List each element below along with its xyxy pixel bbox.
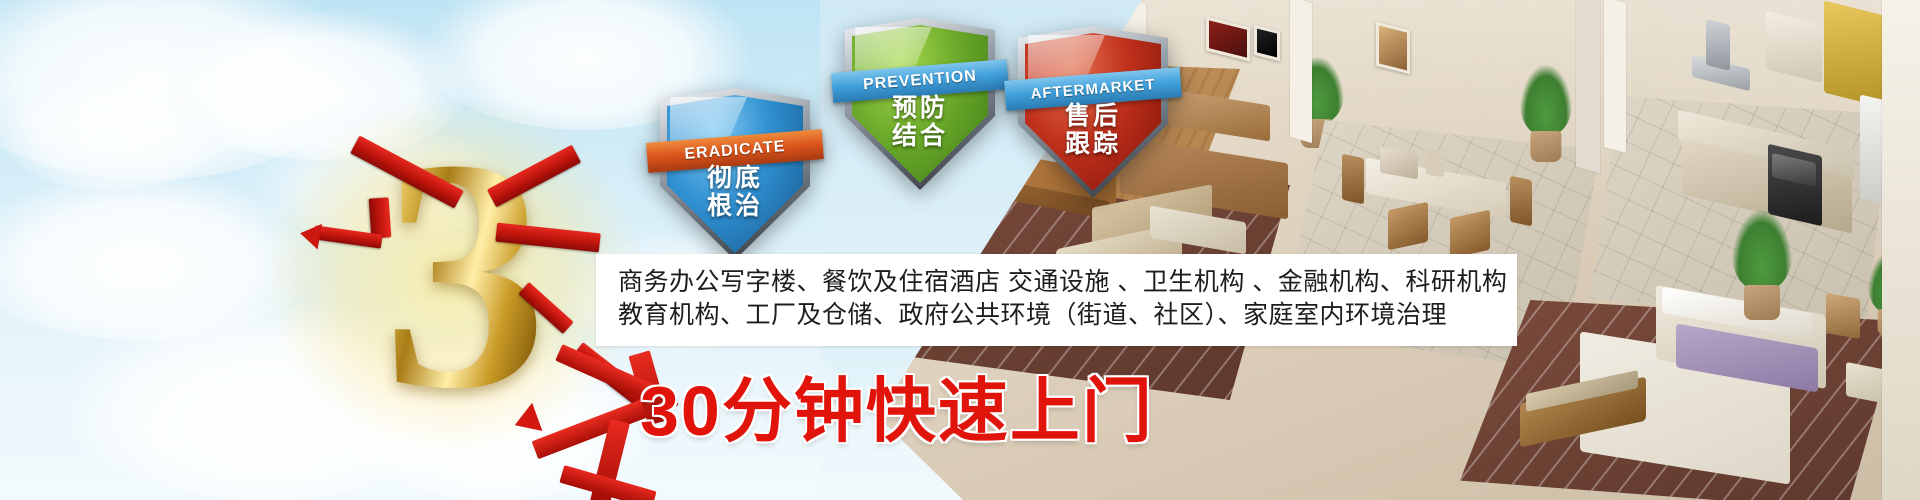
shield-chinese-line1: 彻底 bbox=[660, 164, 810, 192]
shield-chinese-line1: 预防 bbox=[845, 94, 995, 122]
cloud-decoration bbox=[0, 80, 220, 190]
shield-chinese-text: 售后 跟踪 bbox=[1018, 102, 1168, 158]
service-scope-line-2: 教育机构、工厂及仓储、政府公共环境（街道、社区）、家庭室内环境治理 bbox=[618, 299, 1495, 332]
shield-badge-eradicate: ERADICATE 彻底 根治 bbox=[660, 88, 810, 260]
shield-chinese-line2: 跟踪 bbox=[1018, 130, 1168, 158]
headline-text: 30分钟快速上门 bbox=[640, 355, 1154, 456]
shield-chinese-text: 彻底 根治 bbox=[660, 164, 810, 220]
promo-banner: 3 ERADICATE 彻底 根治 PREVENTION bbox=[0, 0, 1920, 500]
potted-plant bbox=[1520, 70, 1572, 162]
shield-chinese-line2: 根治 bbox=[660, 192, 810, 220]
shield-chinese-line1: 售后 bbox=[1018, 102, 1168, 130]
shield-badge-aftermarket: AFTERMARKET 售后 跟踪 bbox=[1018, 26, 1168, 198]
shield-chinese-line2: 结合 bbox=[845, 122, 995, 150]
shield-badge-prevention: PREVENTION 预防 结合 bbox=[845, 18, 995, 190]
potted-plant bbox=[1732, 216, 1792, 320]
shield-chinese-text: 预防 结合 bbox=[845, 94, 995, 150]
service-scope-panel: 商务办公写字楼、餐饮及住宿酒店 交通设施 、卫生机构 、金融机构、科研机构 教育… bbox=[596, 254, 1517, 346]
service-scope-line-1: 商务办公写字楼、餐饮及住宿酒店 交通设施 、卫生机构 、金融机构、科研机构 bbox=[618, 266, 1495, 299]
